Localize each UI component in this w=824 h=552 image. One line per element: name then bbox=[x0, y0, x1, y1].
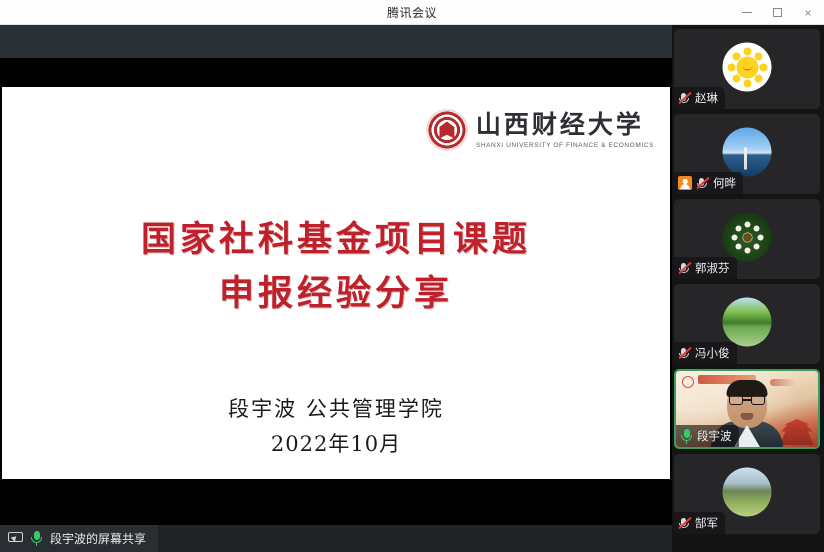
daisy-flower-avatar bbox=[723, 213, 772, 262]
participant-tile[interactable]: 郭淑芬 bbox=[674, 199, 820, 279]
participant-tile[interactable]: 冯小俊 bbox=[674, 284, 820, 364]
participant-name: 郜军 bbox=[695, 515, 718, 531]
participant-name: 何晔 bbox=[713, 175, 736, 191]
mic-off-icon bbox=[696, 177, 709, 190]
participant-name: 冯小俊 bbox=[695, 345, 730, 361]
window-title: 腾讯会议 bbox=[387, 4, 437, 21]
close-icon: × bbox=[804, 6, 811, 20]
tencent-meeting-window: 腾讯会议 × 山西财经大学 SHANXI UNIVERSITY OF FINAN… bbox=[0, 0, 824, 552]
mic-off-icon bbox=[678, 347, 691, 360]
slide-title: 国家社科基金项目课题 申报经验分享 bbox=[2, 213, 670, 322]
mic-on-icon bbox=[680, 429, 693, 444]
participant-namebar: 郭淑芬 bbox=[674, 257, 737, 279]
participant-namebar: 冯小俊 bbox=[674, 342, 737, 364]
university-name-en: SHANXI UNIVERSITY OF FINANCE & ECONOMICS bbox=[476, 142, 654, 149]
participant-name: 郭淑芬 bbox=[695, 260, 730, 276]
participant-name: 赵琳 bbox=[695, 90, 718, 106]
mic-off-icon bbox=[678, 262, 691, 275]
participant-tile-active-speaker[interactable]: 段宇波 bbox=[674, 369, 820, 449]
share-status-label: 段宇波的屏幕共享 bbox=[50, 530, 146, 547]
stage-top-strip bbox=[0, 25, 672, 58]
minimize-button[interactable] bbox=[732, 0, 762, 25]
mic-off-icon bbox=[678, 92, 691, 105]
share-status-bar: 段宇波的屏幕共享 bbox=[0, 525, 672, 552]
minimize-icon bbox=[742, 12, 752, 13]
participant-namebar: 段宇波 bbox=[676, 425, 739, 447]
participant-tile[interactable]: 郜军 bbox=[674, 454, 820, 534]
participant-name: 段宇波 bbox=[697, 428, 732, 444]
university-logo: 山西财经大学 SHANXI UNIVERSITY OF FINANCE & EC… bbox=[426, 109, 654, 151]
maximize-button[interactable] bbox=[762, 0, 792, 25]
mic-off-icon bbox=[678, 517, 691, 530]
participant-sidebar[interactable]: 赵琳 何晔 郭淑芬 bbox=[672, 25, 824, 552]
participant-namebar: 郜军 bbox=[674, 512, 725, 534]
university-name-cn: 山西财经大学 bbox=[476, 111, 644, 139]
university-logo-text: 山西财经大学 SHANXI UNIVERSITY OF FINANCE & EC… bbox=[476, 111, 654, 149]
green-trees-avatar bbox=[723, 298, 772, 347]
screen-share-icon bbox=[8, 532, 23, 545]
shared-screen-stage: 山西财经大学 SHANXI UNIVERSITY OF FINANCE & EC… bbox=[0, 25, 672, 552]
host-badge-icon bbox=[678, 176, 692, 190]
participant-namebar: 赵琳 bbox=[674, 87, 725, 109]
participant-tile[interactable]: 赵琳 bbox=[674, 29, 820, 109]
university-seal-icon bbox=[426, 109, 468, 151]
sun-smiley-avatar bbox=[723, 43, 772, 92]
share-status-chip: 段宇波的屏幕共享 bbox=[0, 525, 158, 552]
presentation-slide: 山西财经大学 SHANXI UNIVERSITY OF FINANCE & EC… bbox=[2, 87, 670, 479]
slide-title-line-2: 申报经验分享 bbox=[2, 267, 670, 321]
close-button[interactable]: × bbox=[792, 0, 824, 25]
mountain-landscape-avatar bbox=[723, 468, 772, 517]
mic-on-icon bbox=[30, 531, 43, 546]
slide-title-line-1: 国家社科基金项目课题 bbox=[2, 213, 670, 267]
participant-tile[interactable]: 何晔 bbox=[674, 114, 820, 194]
slide-date: 2022年10月 bbox=[2, 428, 670, 458]
window-controls: × bbox=[732, 0, 824, 25]
seaside-lighthouse-avatar bbox=[723, 128, 772, 177]
window-titlebar: 腾讯会议 × bbox=[0, 0, 824, 25]
participant-namebar: 何晔 bbox=[674, 172, 743, 194]
slide-presenter: 段宇波 公共管理学院 bbox=[2, 393, 670, 423]
maximize-icon bbox=[773, 8, 782, 17]
